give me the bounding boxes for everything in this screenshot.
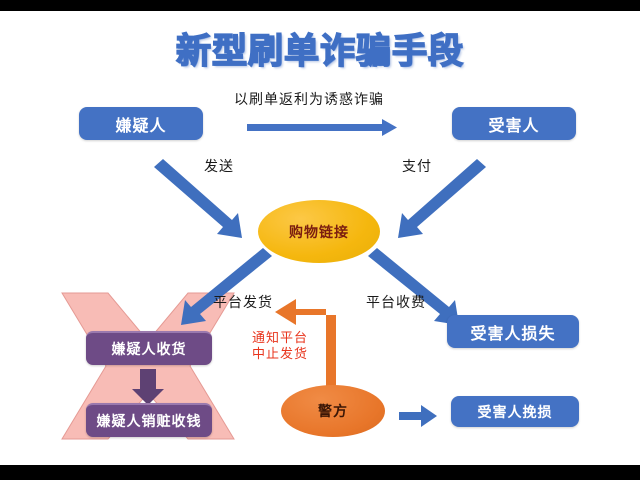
edge-label-notify-platform: 通知平台 中止发货 (252, 331, 308, 364)
edge-label-lure: 以刷单返利为诱惑诈骗 (234, 89, 384, 109)
letterbox-top (0, 0, 640, 11)
arrow-lure (247, 119, 397, 136)
node-victim-recovery[interactable]: 受害人挽损 (451, 396, 579, 427)
edge-label-platform-fee: 平台收费 (366, 292, 426, 312)
arrow-platform-ship (181, 248, 272, 325)
notify-platform-line1: 通知平台 (252, 331, 308, 347)
node-suspect-receives[interactable]: 嫌疑人收货 (86, 331, 212, 365)
node-suspect-label: 嫌疑人 (115, 112, 166, 136)
edge-label-pay: 支付 (402, 156, 432, 176)
node-police[interactable]: 警方 (281, 385, 385, 437)
node-suspect-fences-goods[interactable]: 嫌疑人销赃收钱 (86, 403, 212, 437)
node-suspect[interactable]: 嫌疑人 (79, 107, 203, 140)
notify-platform-line2: 中止发货 (252, 347, 308, 363)
node-police-label: 警方 (318, 401, 348, 421)
node-victim[interactable]: 受害人 (452, 107, 576, 140)
node-suspect-fences-goods-label: 嫌疑人销赃收钱 (97, 411, 202, 431)
arrow-platform-fee (368, 248, 459, 325)
edge-label-platform-ship: 平台发货 (213, 292, 273, 312)
down-arrow-icon (132, 369, 164, 405)
node-victim-recovery-label: 受害人挽损 (478, 402, 553, 422)
node-victim-loss[interactable]: 受害人损失 (447, 315, 579, 348)
node-victim-loss-label: 受害人损失 (470, 320, 555, 344)
diagram-canvas: 新型刷单诈骗手段 (0, 11, 640, 465)
letterbox-bottom (0, 465, 640, 480)
node-victim-label: 受害人 (488, 112, 539, 136)
page-title: 新型刷单诈骗手段 (0, 23, 640, 74)
right-arrow-icon (399, 405, 437, 427)
node-shopping-link[interactable]: 购物链接 (258, 200, 380, 263)
slide-stage: 新型刷单诈骗手段 (0, 0, 640, 480)
node-shopping-link-label: 购物链接 (289, 222, 349, 242)
node-suspect-receives-label: 嫌疑人收货 (112, 339, 187, 359)
edge-label-send: 发送 (204, 156, 234, 176)
